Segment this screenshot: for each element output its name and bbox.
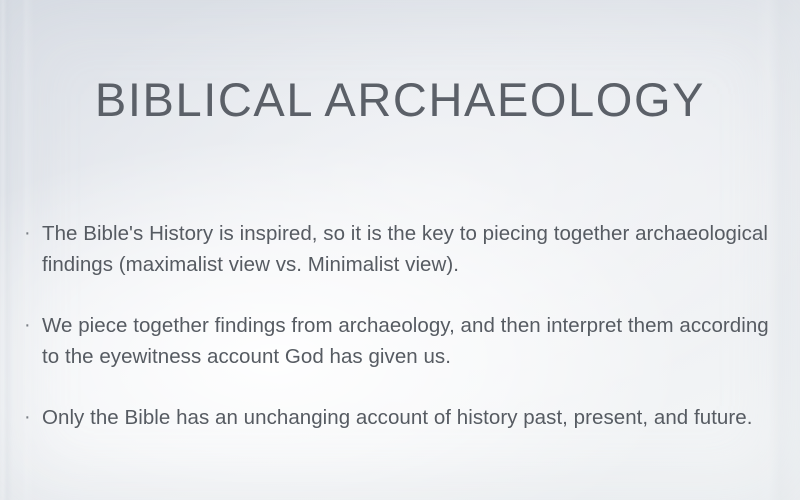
list-item-text: The Bible's History is inspired, so it i…	[42, 218, 782, 280]
list-item: · We piece together findings from archae…	[22, 310, 782, 372]
bullet-point-icon: ·	[22, 402, 42, 433]
list-item-text: Only the Bible has an unchanging account…	[42, 402, 782, 433]
list-item: · The Bible's History is inspired, so it…	[22, 218, 782, 280]
bullet-point-icon: ·	[22, 310, 42, 341]
bullet-point-icon: ·	[22, 218, 42, 249]
list-item-text: We piece together findings from archaeol…	[42, 310, 782, 372]
bullet-list: · The Bible's History is inspired, so it…	[22, 218, 782, 433]
slide-title: BIBLICAL ARCHAEOLOGY	[0, 71, 800, 129]
presentation-slide: BIBLICAL ARCHAEOLOGY · The Bible's Histo…	[0, 0, 800, 500]
list-item: · Only the Bible has an unchanging accou…	[22, 402, 782, 433]
